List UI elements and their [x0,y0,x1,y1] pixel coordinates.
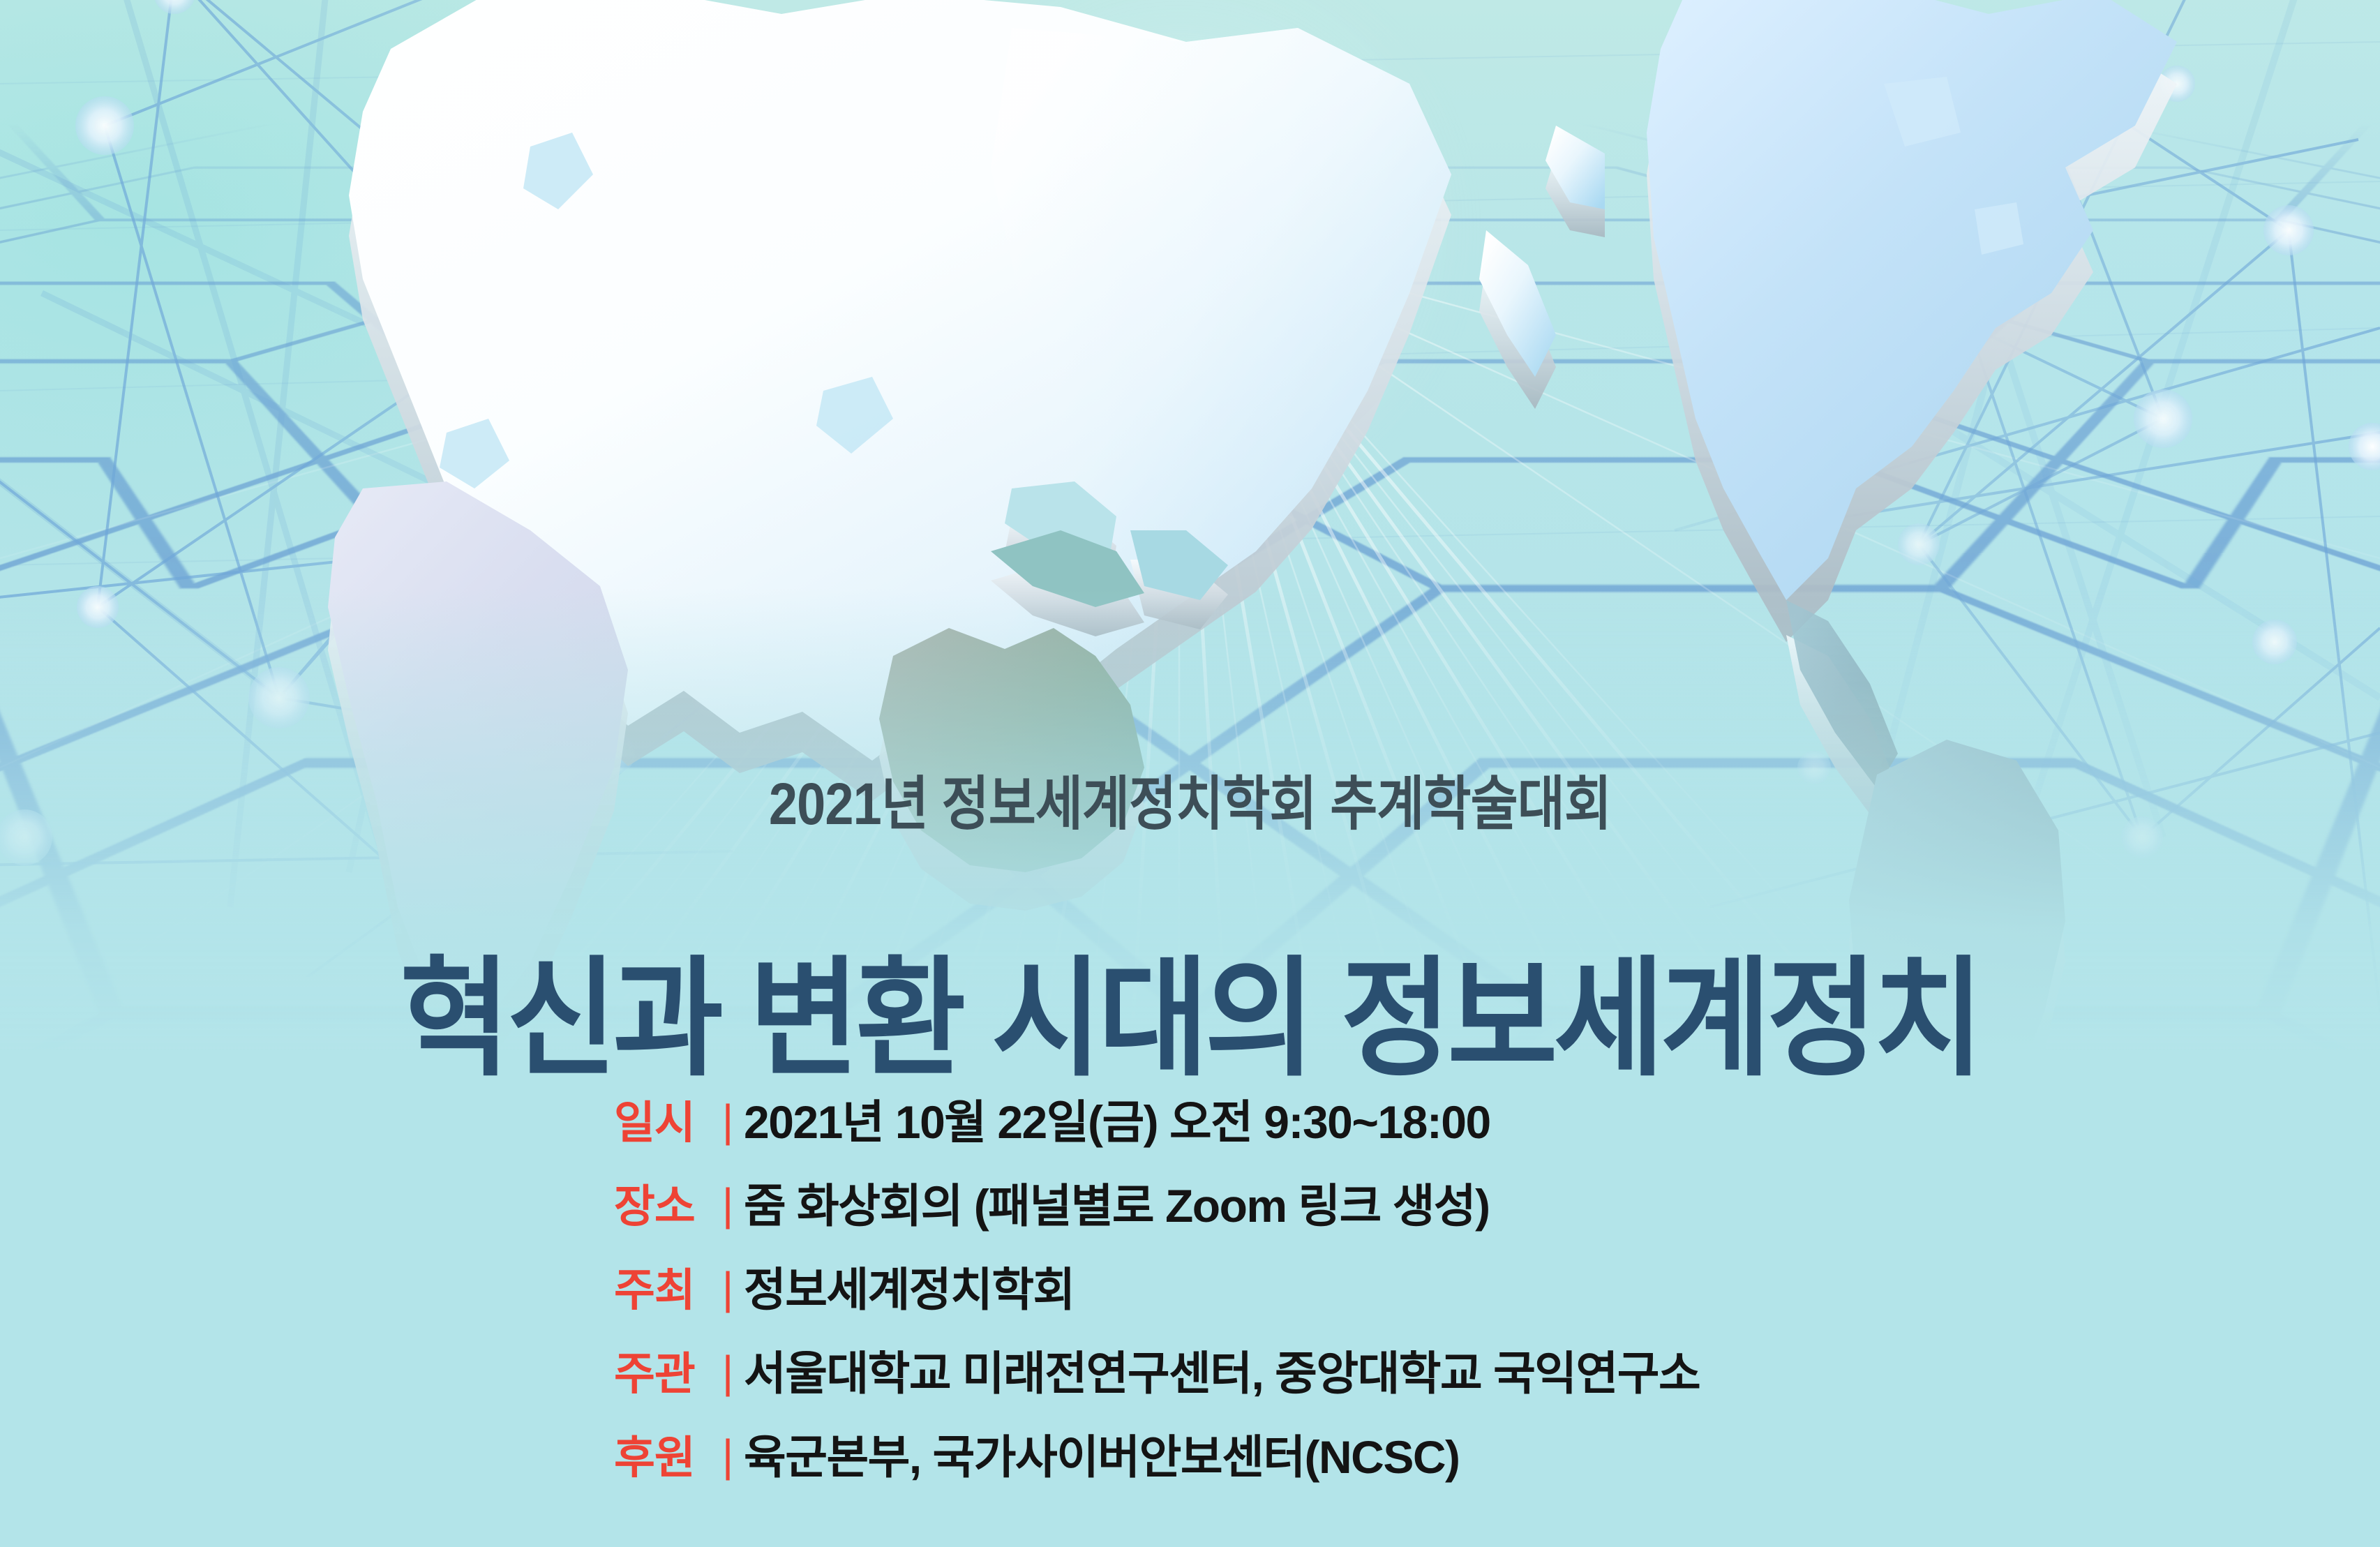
detail-value-organizer: 서울대학교 미래전연구센터, 중앙대학교 국익연구소 [744,1336,1700,1403]
detail-row-host: 주최 | 정보세계정치학회 [614,1253,2149,1336]
event-details-list: 일시 | 2021년 10월 22일(금) 오전 9:30~18:00 장소 |… [614,1085,2149,1504]
detail-separator: | [712,1262,744,1314]
detail-row-date: 일시 | 2021년 10월 22일(금) 오전 9:30~18:00 [614,1085,2149,1169]
detail-value-date: 2021년 10월 22일(금) 오전 9:30~18:00 [744,1085,1490,1152]
poster-content: 2021년 정보세계정치학회 추계학술대회 혁신과 변환 시대의 정보세계정치 … [0,0,2380,1547]
detail-row-venue: 장소 | 줌 화상회의 (패널별로 Zoom 링크 생성) [614,1169,2149,1253]
detail-value-sponsor: 육군본부, 국가사이버안보센터(NCSC) [744,1420,1460,1487]
detail-row-sponsor: 후원 | 육군본부, 국가사이버안보센터(NCSC) [614,1420,2149,1504]
detail-row-organizer: 주관 | 서울대학교 미래전연구센터, 중앙대학교 국익연구소 [614,1336,2149,1420]
poster-title: 혁신과 변환 시대의 정보세계정치 [83,952,2296,1087]
conference-poster: 2021년 정보세계정치학회 추계학술대회 혁신과 변환 시대의 정보세계정치 … [0,0,2380,1547]
detail-label-venue: 장소 [614,1171,712,1235]
detail-label-date: 일시 [614,1087,712,1151]
detail-separator: | [712,1179,744,1230]
detail-label-host: 주최 [614,1255,712,1319]
detail-separator: | [712,1430,744,1481]
detail-separator: | [712,1346,744,1398]
detail-value-host: 정보세계정치학회 [744,1253,1075,1320]
poster-subtitle: 2021년 정보세계정치학회 추계학술대회 [143,757,2238,842]
detail-separator: | [712,1095,744,1146]
detail-label-organizer: 주관 [614,1338,712,1403]
detail-label-sponsor: 후원 [614,1422,712,1486]
detail-value-venue: 줌 화상회의 (패널별로 Zoom 링크 생성) [744,1169,1490,1236]
